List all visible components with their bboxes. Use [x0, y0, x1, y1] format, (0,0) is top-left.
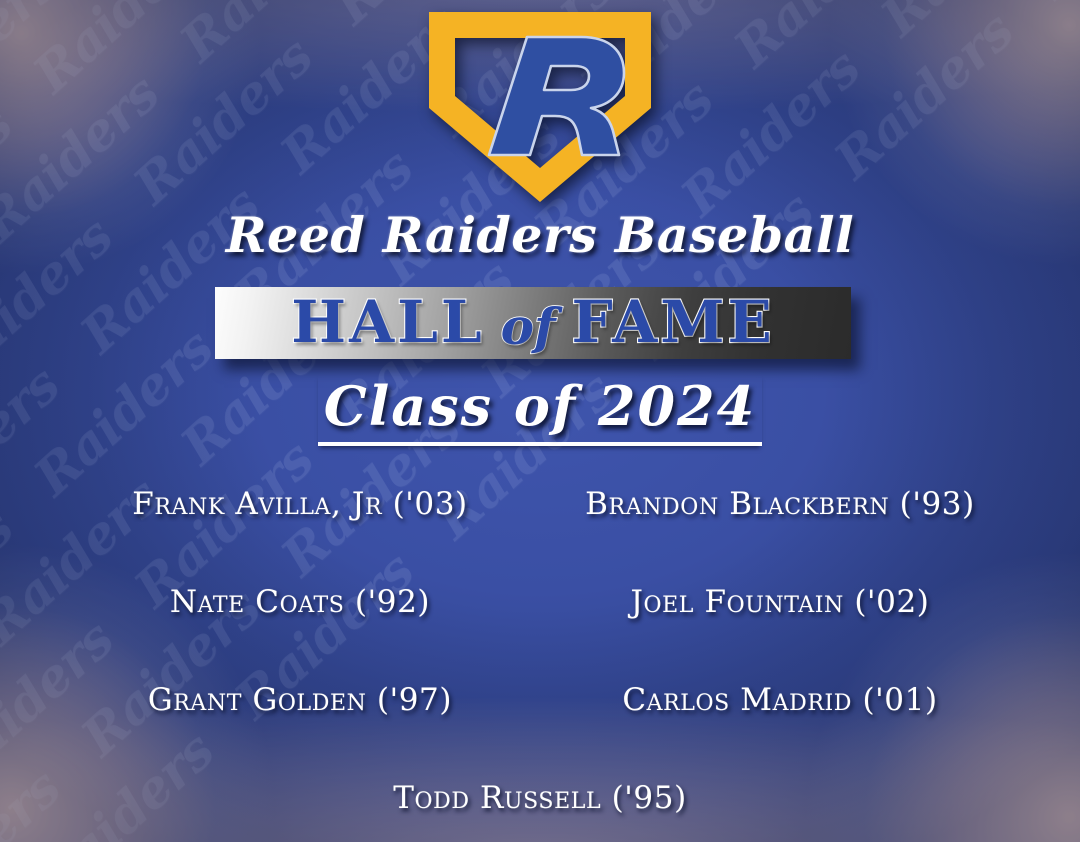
- hall-word: HALL: [291, 288, 484, 356]
- of-word: of: [501, 297, 556, 356]
- letter-r-glyph: [489, 37, 624, 155]
- inductee-cell: Joel Fountain ('02): [540, 584, 1020, 620]
- inductee-list: Frank Avilla, Jr ('03) Brandon Blackbern…: [60, 455, 1020, 842]
- inductee-cell: Frank Avilla, Jr ('03): [60, 486, 540, 522]
- inductee-cell: Brandon Blackbern ('93): [540, 486, 1020, 522]
- inductee-name: Carlos Madrid ('01): [622, 682, 937, 718]
- page-title-script: Reed Raiders Baseball: [0, 206, 1080, 264]
- inductee-name: Todd Russell ('95): [393, 780, 687, 816]
- inductee-row: Frank Avilla, Jr ('03) Brandon Blackbern…: [60, 455, 1020, 553]
- inductee-cell: Grant Golden ('97): [60, 682, 540, 718]
- inductee-name: Brandon Blackbern ('93): [585, 486, 975, 522]
- hall-of-fame-banner: HALL of FAME: [215, 287, 851, 359]
- inductee-row-final: Todd Russell ('95): [60, 749, 1020, 842]
- inductee-name: Joel Fountain ('02): [630, 584, 929, 620]
- hall-of-fame-poster: RaidersRaidersRaidersRaidersRaidersRaide…: [0, 0, 1080, 842]
- class-year-line: Class of 2024: [0, 374, 1080, 446]
- inductee-row: Nate Coats ('92) Joel Fountain ('02): [60, 553, 1020, 651]
- inductee-name: Frank Avilla, Jr ('03): [132, 486, 467, 522]
- inductee-row: Grant Golden ('97) Carlos Madrid ('01): [60, 651, 1020, 749]
- inductee-name: Nate Coats ('92): [170, 584, 430, 620]
- class-year-text: Class of 2024: [318, 374, 762, 446]
- inductee-cell: Nate Coats ('92): [60, 584, 540, 620]
- fame-word: FAME: [572, 288, 775, 356]
- inductee-cell: Todd Russell ('95): [60, 780, 1020, 816]
- inductee-cell: Carlos Madrid ('01): [540, 682, 1020, 718]
- inductee-name: Grant Golden ('97): [148, 682, 452, 718]
- reed-raiders-logo: [415, 4, 665, 210]
